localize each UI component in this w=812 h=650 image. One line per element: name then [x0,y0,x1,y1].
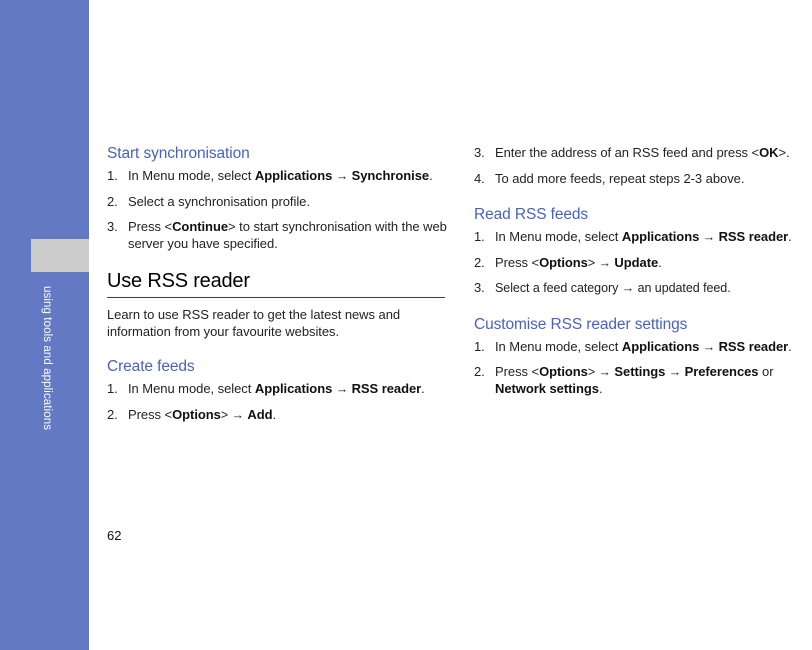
page-number: 62 [107,528,121,543]
list-item-text: Press <Options> → Settings → Preferences… [495,364,774,396]
heading-read-rss-feeds: Read RSS feeds [474,206,812,224]
list-item-text: Enter the address of an RSS feed and pre… [495,145,790,160]
list-item-text: In Menu mode, select Applications → RSS … [495,229,792,244]
list-item-number: 1. [107,381,123,398]
steps-read-rss-feeds: 1.In Menu mode, select Applications → RS… [474,229,812,297]
list-item-number: 4. [474,171,490,188]
list-item: 2.Press <Options> → Update. [474,255,812,272]
list-item-text: Select a synchronisation profile. [128,194,310,209]
list-item-text: Press <Options> → Add. [128,407,276,422]
steps-start-synchronisation: 1.In Menu mode, select Applications → Sy… [107,168,447,252]
list-item-number: 1. [474,339,490,356]
list-item: 1.In Menu mode, select Applications → Sy… [107,168,447,185]
left-column: Start synchronisation 1.In Menu mode, se… [107,145,447,423]
list-item: 2.Press <Options> → Add. [107,407,447,424]
list-item: 3.Enter the address of an RSS feed and p… [474,145,812,162]
list-item: 1.In Menu mode, select Applications → RS… [474,229,812,246]
list-item: 4.To add more feeds, repeat steps 2-3 ab… [474,171,812,188]
manual-page: Start synchronisation 1.In Menu mode, se… [0,0,812,650]
list-item-number: 3. [107,219,123,236]
heading-start-synchronisation: Start synchronisation [107,145,447,163]
list-item-text: Press <Continue> to start synchronisatio… [128,219,447,251]
right-column: 3.Enter the address of an RSS feed and p… [474,145,812,397]
list-item: 3.Select a feed category → an updated fe… [474,280,812,297]
list-item-number: 3. [474,280,490,297]
list-item-number: 1. [474,229,490,246]
list-item-text: To add more feeds, repeat steps 2-3 abov… [495,171,744,186]
heading-create-feeds: Create feeds [107,358,447,376]
list-item-number: 2. [107,407,123,424]
steps-create-feeds-continued: 3.Enter the address of an RSS feed and p… [474,145,812,187]
steps-customise-rss-reader-settings: 1.In Menu mode, select Applications → RS… [474,339,812,398]
list-item-number: 2. [474,364,490,381]
list-item: 3.Press <Continue> to start synchronisat… [107,219,447,252]
list-item-text: Select a feed category → an updated feed… [495,280,731,295]
heading-customise-rss-reader-settings: Customise RSS reader settings [474,316,812,334]
list-item: 2.Select a synchronisation profile. [107,194,447,211]
list-item-text: In Menu mode, select Applications → Sync… [128,168,433,183]
intro-paragraph-use-rss-reader: Learn to use RSS reader to get the lates… [107,307,447,340]
list-item-number: 3. [474,145,490,162]
steps-create-feeds: 1.In Menu mode, select Applications → RS… [107,381,447,423]
list-item-text: In Menu mode, select Applications → RSS … [128,381,425,396]
list-item-text: In Menu mode, select Applications → RSS … [495,339,792,354]
list-item: 1.In Menu mode, select Applications → RS… [474,339,812,356]
list-item-number: 2. [107,194,123,211]
section-divider [107,297,445,298]
list-item: 1.In Menu mode, select Applications → RS… [107,381,447,398]
list-item-number: 1. [107,168,123,185]
list-item-text: Press <Options> → Update. [495,255,662,270]
heading-use-rss-reader: Use RSS reader [107,270,447,293]
list-item-number: 2. [474,255,490,272]
list-item: 2.Press <Options> → Settings → Preferenc… [474,364,812,397]
